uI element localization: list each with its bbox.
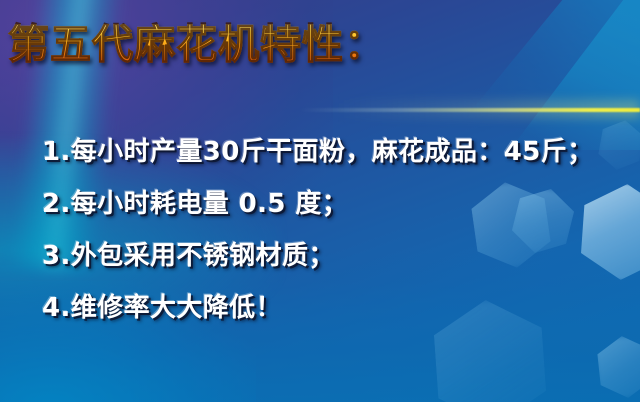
bullet-list: 1.每小时产量30斤干面粉，麻花成品：45斤； 2.每小时耗电量 0.5 度； …: [42, 126, 640, 334]
bullet-item-3: 3.外包采用不锈钢材质；: [42, 230, 640, 282]
slide-title: 第五代麻花机特性：: [8, 24, 386, 65]
light-bar-divider: [300, 108, 640, 112]
bullet-item-4: 4.维修率大大降低！: [42, 282, 640, 334]
bullet-item-2: 2.每小时耗电量 0.5 度；: [42, 178, 640, 230]
bullet-item-1: 1.每小时产量30斤干面粉，麻花成品：45斤；: [42, 126, 640, 178]
promo-slide: 第五代麻花机特性： 1.每小时产量30斤干面粉，麻花成品：45斤； 2.每小时耗…: [0, 0, 640, 402]
